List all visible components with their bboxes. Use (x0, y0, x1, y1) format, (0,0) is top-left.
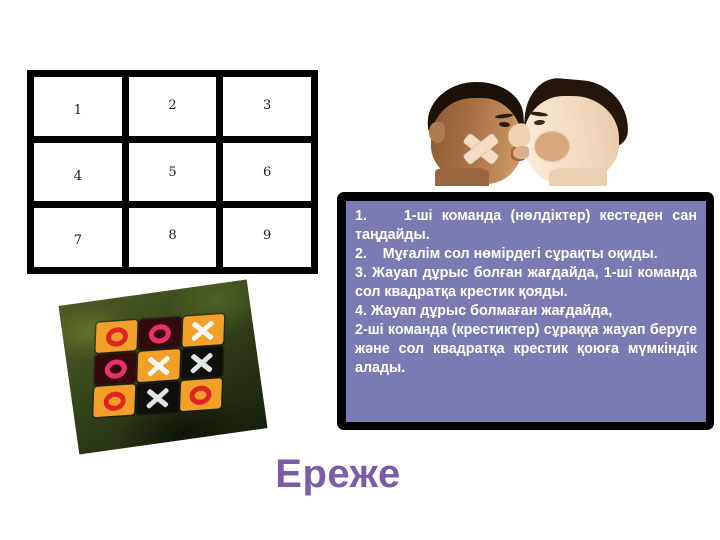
grid-cell-6[interactable]: 6 (223, 143, 311, 202)
round-bandage-icon (535, 132, 569, 161)
right-face-neck (549, 168, 607, 186)
grid-cell-label: 5 (129, 166, 217, 179)
rules-text-box: 1. 1-ші команда (нөлдіктер) кестеден сан… (337, 192, 714, 430)
numbered-question-grid: 1 2 3 4 5 6 7 8 9 (27, 70, 318, 274)
rule-line-2: 2. Мұғалім сол нөмірдегі сұрақты оқиды. (355, 245, 697, 264)
grid-cell-label: 7 (34, 234, 122, 247)
grid-cell-label: 2 (129, 99, 217, 112)
mat-tile (181, 346, 223, 379)
rules-text-content: 1. 1-ші команда (нөлдіктер) кестеден сан… (346, 201, 706, 422)
grid-cell-label: 8 (129, 229, 217, 242)
grid-cell-label: 3 (223, 99, 311, 112)
mat-tile (96, 320, 138, 353)
grid-cell-label: 4 (34, 170, 122, 183)
grid-cell-label: 6 (223, 166, 311, 179)
two-faces-profile-photo (415, 72, 647, 186)
page-title: Ереже (0, 452, 720, 497)
mat-tile (138, 349, 180, 382)
mat-tile (139, 317, 181, 350)
left-face-neck (435, 168, 489, 186)
x-mark-icon (190, 318, 217, 342)
mat-tile (136, 381, 178, 414)
grid-cell-1[interactable]: 1 (34, 77, 122, 136)
x-bandage-icon (461, 129, 501, 169)
grid-cell-5[interactable]: 5 (129, 143, 217, 202)
rule-line-1: 1. 1-ші команда (нөлдіктер) кестеден сан… (355, 207, 697, 245)
grid-cell-label: 1 (34, 104, 122, 117)
slide-canvas: 1 2 3 4 5 6 7 8 9 (0, 0, 720, 540)
x-mark-icon (145, 354, 172, 378)
mat-tile (182, 314, 224, 347)
o-mark-icon (104, 358, 127, 379)
grid-cell-label: 9 (223, 229, 311, 242)
rule-line-3: 3. Жауап дұрыс болған жағдайда, 1-ші ком… (355, 264, 697, 302)
x-mark-icon (144, 386, 171, 410)
rule-line-5: 2-ші команда (крестиктер) сұраққа жауап … (355, 321, 697, 378)
right-face-lip (513, 146, 529, 159)
grid-cell-2[interactable]: 2 (129, 77, 217, 136)
left-face-ear (429, 122, 445, 143)
grid-cell-3[interactable]: 3 (223, 77, 311, 136)
faces-photo-backdrop (415, 72, 647, 186)
page-title-text: Ереже (275, 452, 400, 497)
mat-tile (180, 378, 222, 411)
grid-cell-8[interactable]: 8 (129, 208, 217, 267)
tic-tac-toe-foam-mat-photo (58, 280, 267, 455)
o-mark-icon (105, 326, 128, 347)
o-mark-icon (149, 323, 172, 344)
grid-cell-4[interactable]: 4 (34, 143, 122, 202)
x-mark-icon (189, 351, 216, 375)
rule-line-4: 4. Жауап дұрыс болмаған жағдайда, (355, 302, 697, 321)
mat-tile (94, 352, 136, 385)
o-mark-icon (103, 390, 126, 411)
grid-cell-7[interactable]: 7 (34, 208, 122, 267)
foam-mat-board (93, 314, 224, 417)
grid-cell-9[interactable]: 9 (223, 208, 311, 267)
o-mark-icon (190, 384, 213, 405)
mat-tile (93, 384, 135, 417)
